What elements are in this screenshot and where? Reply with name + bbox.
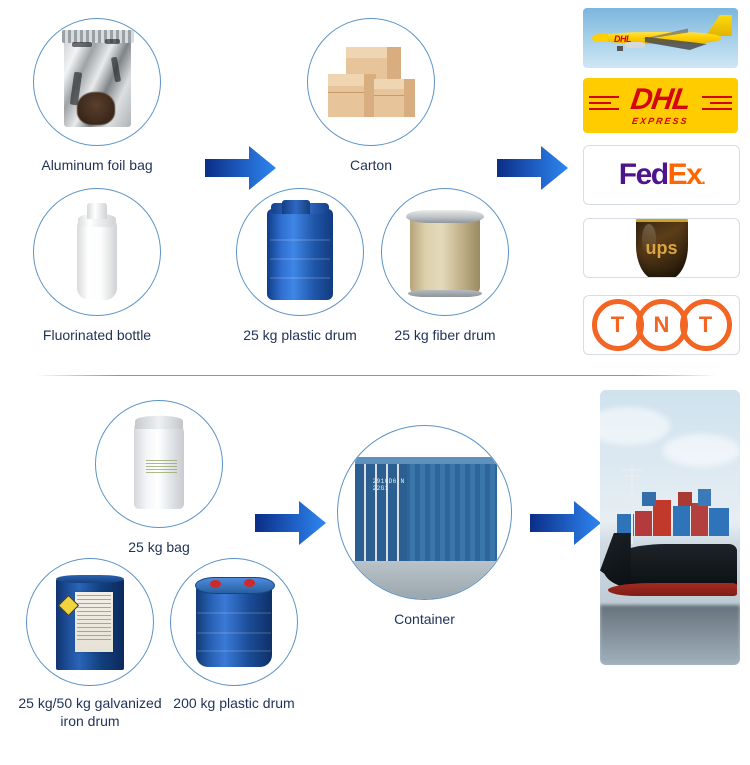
shipping-container-icon: 2910D6 N22G1 [338,426,511,599]
carrier-ups[interactable]: ups [583,218,740,278]
blue-barrel-icon [171,559,297,685]
arrow-4 [530,500,602,546]
arrow-3 [255,500,327,546]
item-label: 25 kg/50 kg galvanized iron drum [5,694,175,730]
infographic-canvas: Aluminum foil bag Fluorinated bottle [0,0,750,765]
item-fiber-drum-25kg[interactable]: 25 kg fiber drum [381,188,509,316]
circle-frame [33,188,161,316]
plastic-bottle-icon [34,189,160,315]
fedex-ex-text: Ex [668,158,702,191]
dhl-express-subtext: EXPRESS [632,116,690,126]
fiber-drum-icon [382,189,508,315]
item-label: 25 kg plastic drum [243,326,357,344]
blue-jerrycan-icon [237,189,363,315]
fedex-fed-text: Fed [619,158,668,191]
item-label: 200 kg plastic drum [173,694,294,712]
arrow-2 [497,145,569,191]
cargo-ship-photo-card[interactable] [600,390,740,665]
carrier-dhl-express[interactable]: DHL EXPRESS [583,78,738,133]
tnt-logo: T N T [592,299,732,351]
item-fluorinated-bottle[interactable]: Fluorinated bottle [33,188,161,316]
item-label: Aluminum foil bag [41,156,152,174]
circle-frame [26,558,154,686]
carrier-fedex[interactable]: FedEx. [583,145,740,205]
circle-frame [170,558,298,686]
item-container[interactable]: 2910D6 N22G1 Container [337,425,512,600]
circle-frame [381,188,509,316]
circle-frame [236,188,364,316]
carrier-dhl-aircraft[interactable]: DHL [583,8,738,68]
right-arrow-icon [205,145,277,191]
item-carton[interactable]: Carton [307,18,435,146]
carrier-tnt[interactable]: T N T [583,295,740,355]
iron-drum-icon [27,559,153,685]
cargo-ship-photo [600,390,740,665]
ups-wordmark: ups [645,238,677,259]
fedex-dot: . [701,171,704,188]
circle-frame: 2910D6 N22G1 [337,425,512,600]
item-label: Carton [350,156,392,174]
right-arrow-icon [255,500,327,546]
arrow-1 [205,145,277,191]
item-label: Container [394,610,455,628]
tnt-letter-3: T [680,299,732,351]
item-aluminum-foil-bag[interactable]: Aluminum foil bag [33,18,161,146]
item-label: 25 kg bag [128,538,190,556]
dhl-express-logo: DHL EXPRESS [583,78,738,133]
circle-frame [33,18,161,146]
fedex-logo: FedEx. [619,160,705,190]
item-bag-25kg[interactable]: 25 kg bag [95,400,223,528]
right-arrow-icon [530,500,602,546]
item-label: 25 kg fiber drum [394,326,495,344]
item-galvanized-iron-drum[interactable]: 25 kg/50 kg galvanized iron drum [26,558,154,686]
carton-boxes-icon [308,19,434,145]
woven-sack-icon [96,401,222,527]
item-plastic-drum-200kg[interactable]: 200 kg plastic drum [170,558,298,686]
foil-bag-icon [34,19,160,145]
circle-frame [95,400,223,528]
circle-frame [307,18,435,146]
right-arrow-icon [497,145,569,191]
item-plastic-drum-25kg[interactable]: 25 kg plastic drum [236,188,364,316]
ups-shield-logo: ups [636,218,688,278]
section-divider [35,375,717,376]
dhl-wordmark: DHL [629,85,692,115]
dhl-aircraft-photo: DHL [583,8,738,68]
item-label: Fluorinated bottle [43,326,151,344]
